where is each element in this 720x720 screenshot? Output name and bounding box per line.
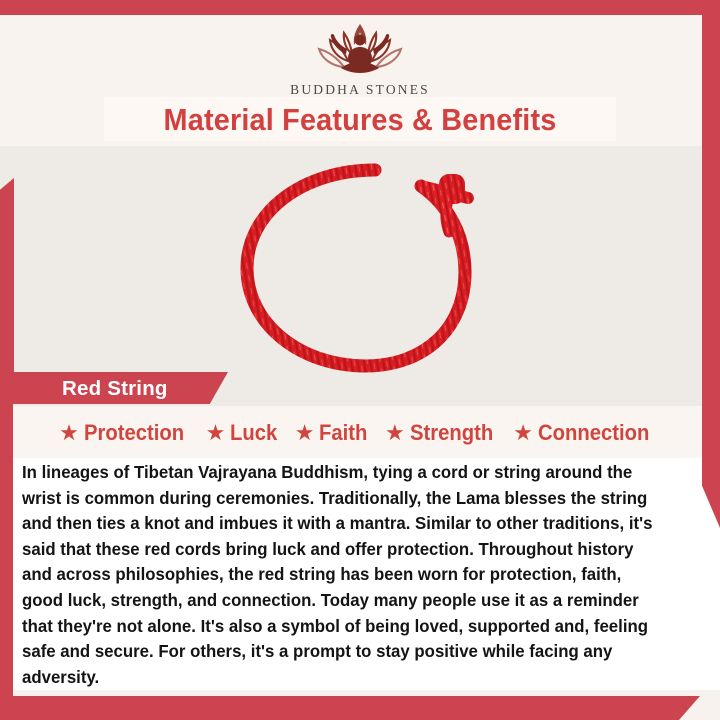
adjustable-knot — [439, 174, 465, 232]
star-icon: ★ — [206, 422, 226, 444]
lotus-meditation-icon — [300, 18, 420, 80]
frame-left-bar-lower — [0, 374, 13, 696]
page-title: Material Features & Benefits — [122, 99, 598, 141]
star-icon: ★ — [295, 422, 315, 444]
star-icon: ★ — [59, 422, 79, 444]
infographic-page: BUDDHA STONES Material Features & Benefi… — [0, 0, 720, 720]
benefit-item: ★ Protection — [59, 420, 193, 446]
benefit-label-faith: Faith — [319, 420, 367, 446]
star-icon: ★ — [385, 422, 405, 444]
benefit-item: ★ Strength — [385, 420, 500, 446]
benefit-label-strength: Strength — [410, 420, 493, 446]
brand-logo: BUDDHA STONES — [0, 18, 720, 98]
star-icon: ★ — [513, 422, 533, 444]
benefit-label-luck: Luck — [230, 420, 277, 446]
frame-left-bar-upper — [0, 178, 14, 374]
product-image-red-string-bracelet — [225, 160, 500, 375]
product-label-text: Red String — [62, 374, 168, 403]
frame-top-strip — [0, 0, 720, 15]
benefits-row: ★ Protection ★ Luck ★ Faith ★ Strength ★… — [14, 414, 704, 452]
benefit-label-connection: Connection — [538, 420, 649, 446]
frame-bottom-bar — [0, 696, 700, 720]
benefit-item: ★ Luck — [206, 420, 282, 446]
description-paragraph: In lineages of Tibetan Vajrayana Buddhis… — [22, 460, 664, 690]
benefit-item: ★ Connection — [513, 420, 659, 446]
braided-cord-illustration — [225, 160, 500, 375]
benefit-label-protection: Protection — [84, 420, 184, 446]
brand-name: BUDDHA STONES — [0, 82, 720, 98]
benefit-item: ★ Faith — [295, 420, 372, 446]
